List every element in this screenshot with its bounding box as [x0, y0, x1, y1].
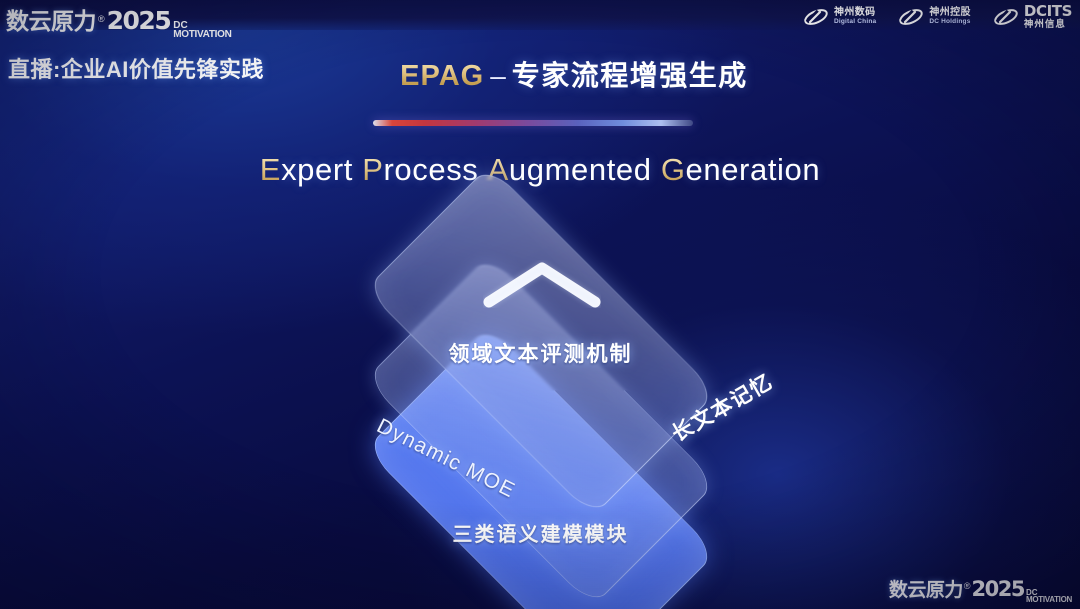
partner-name-en: Digital China	[834, 19, 876, 26]
partner-logo-dcits: DCITS 神州信息	[993, 4, 1072, 30]
partner-name-en: DCITS	[1024, 4, 1072, 20]
slide-subtitle-english: Expert Process Augmented Generation	[0, 152, 1080, 188]
brand-registered-mark: ®	[98, 14, 105, 24]
partner-name-cn: 神州信息	[1024, 20, 1072, 30]
title-dash: –	[490, 60, 506, 91]
brand-dc-motivation: DC MOTIVATION	[173, 22, 231, 39]
layered-architecture-diagram: 领域文本评测机制 Dynamic MOE 长文本记忆 三类语义建模模块	[268, 228, 813, 593]
brand-logo-header: 数云原力®2025 DC MOTIVATION	[6, 2, 306, 40]
slide-canvas: 数云原力®2025 DC MOTIVATION 直播:企业AI价值先锋实践 神州…	[0, 0, 1080, 609]
partner-logo-digital-china: 神州数码 Digital China	[803, 7, 876, 27]
subtitle-rest-expert: xpert	[281, 152, 353, 187]
watermark-registered-mark: ®	[964, 581, 971, 591]
partner-text: DCITS 神州信息	[1024, 4, 1072, 30]
brand-motivation-text: MOTIVATION	[173, 31, 231, 40]
watermark-brand-cn: 数云原力	[889, 575, 963, 602]
watermark-motivation-text: MOTIVATION	[1026, 597, 1072, 604]
subtitle-cap-p: P	[362, 152, 383, 187]
subtitle-cap-e: E	[260, 152, 281, 187]
brand-name-cn: 数云原力	[6, 2, 96, 36]
partner-name-en: DC Holdings	[929, 19, 971, 26]
subtitle-rest-augmented: ugmented	[509, 152, 652, 187]
chevron-up-icon	[483, 260, 601, 308]
swoosh-icon	[993, 7, 1019, 27]
brand-year: 2025	[107, 6, 171, 35]
subtitle-cap-g: G	[661, 152, 686, 187]
swoosh-icon	[898, 7, 924, 27]
partner-logo-group: 神州数码 Digital China 神州控股 DC Holdings	[803, 4, 1072, 30]
brand-lockup: 数云原力®2025 DC MOTIVATION	[889, 575, 1072, 605]
watermark-year: 2025	[972, 577, 1024, 601]
title-chinese: 专家流程增强生成	[512, 60, 748, 91]
slide-title: EPAG–专家流程增强生成	[0, 54, 1080, 94]
brand-lockup: 数云原力®2025 DC MOTIVATION	[6, 2, 306, 40]
watermark-dc-motivation: DC MOTIVATION	[1026, 590, 1072, 604]
partner-logo-dc-holdings: 神州控股 DC Holdings	[898, 7, 971, 27]
title-acronym: EPAG	[400, 60, 484, 92]
subtitle-rest-generation: eneration	[686, 152, 821, 187]
partner-text: 神州数码 Digital China	[834, 8, 876, 25]
gradient-divider	[373, 120, 693, 126]
swoosh-icon	[803, 7, 829, 27]
subtitle-rest-process: rocess	[384, 152, 479, 187]
partner-text: 神州控股 DC Holdings	[929, 8, 971, 25]
brand-watermark-footer: 数云原力®2025 DC MOTIVATION	[889, 575, 1072, 605]
